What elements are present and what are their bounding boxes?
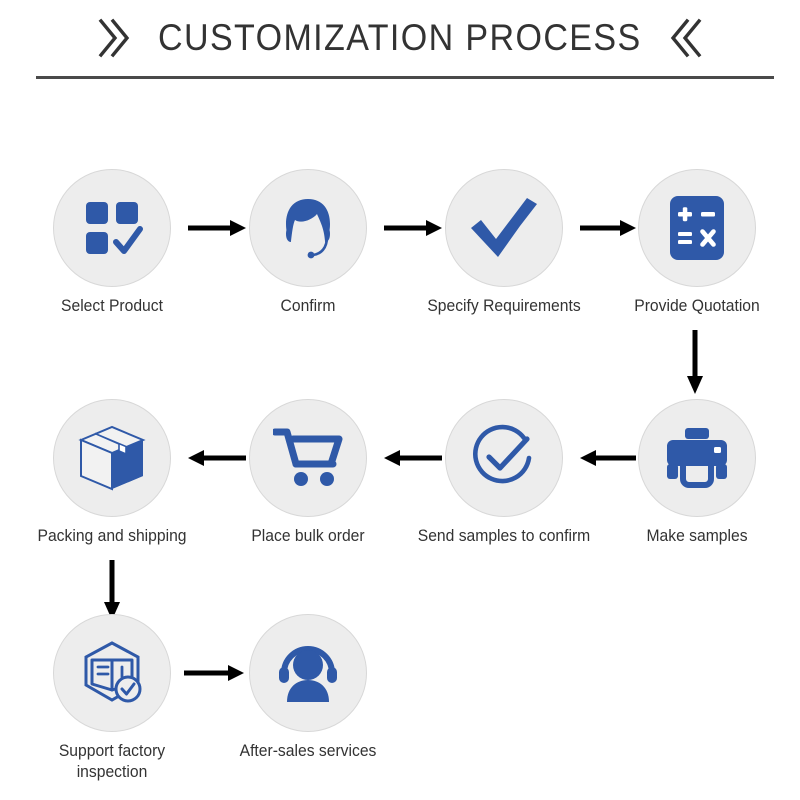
step-packing-and-shipping[interactable]: Packing and shipping	[7, 399, 217, 547]
step-after-sales-services[interactable]: After-sales services	[203, 614, 413, 762]
step-confirm[interactable]: Confirm	[233, 169, 383, 317]
shopping-cart-icon	[273, 426, 343, 490]
step-label: Support factory inspection	[41, 741, 184, 783]
step-label: Packing and shipping	[12, 526, 212, 547]
step-label: Place bulk order	[237, 526, 380, 547]
page-title: CUSTOMIZATION PROCESS	[158, 17, 642, 59]
calculator-icon	[668, 194, 726, 262]
grid-check-icon	[80, 196, 144, 260]
checkmark-icon	[468, 195, 540, 261]
step-label: After-sales services	[208, 741, 408, 762]
headset-person-icon	[275, 643, 341, 703]
arrow-row1-3-4	[580, 216, 636, 240]
arrow-row2-to-row3	[100, 560, 124, 620]
arrow-row1-1-2	[188, 216, 246, 240]
step-support-factory-inspection[interactable]: Support factory inspection	[37, 614, 187, 783]
step-send-samples-to-confirm[interactable]: Send samples to confirm	[399, 399, 609, 547]
shield-inspection-icon	[78, 640, 146, 706]
arrow-row2-4-3	[578, 446, 636, 470]
step-label: Confirm	[237, 296, 380, 317]
arrow-row2-2-1	[186, 446, 246, 470]
arrow-row3-1-2	[184, 661, 244, 685]
printing-press-icon	[663, 427, 731, 489]
step-icon-circle	[638, 169, 756, 287]
step-label: Make samples	[626, 526, 769, 547]
package-box-icon	[77, 423, 147, 493]
step-icon-circle	[638, 399, 756, 517]
step-icon-circle	[53, 399, 171, 517]
step-label: Select Product	[41, 296, 184, 317]
diagram-header: CUSTOMIZATION PROCESS	[0, 0, 800, 90]
step-icon-circle	[249, 399, 367, 517]
step-label: Specify Requirements	[404, 296, 604, 317]
step-select-product[interactable]: Select Product	[37, 169, 187, 317]
step-icon-circle	[53, 614, 171, 732]
title-row: CUSTOMIZATION PROCESS	[0, 8, 800, 68]
step-specify-requirements[interactable]: Specify Requirements	[399, 169, 609, 317]
step-icon-circle	[53, 169, 171, 287]
title-divider	[36, 76, 774, 79]
circle-check-icon	[469, 423, 539, 493]
support-agent-icon	[274, 194, 342, 262]
arrow-row2-3-2	[382, 446, 442, 470]
step-icon-circle	[249, 614, 367, 732]
step-icon-circle	[445, 169, 563, 287]
arrow-row1-to-row2	[683, 330, 707, 394]
double-chevron-left-icon	[669, 17, 703, 59]
arrow-row1-2-3	[384, 216, 442, 240]
double-chevron-right-icon	[97, 17, 131, 59]
step-label: Send samples to confirm	[404, 526, 604, 547]
step-label: Provide Quotation	[597, 296, 797, 317]
step-icon-circle	[249, 169, 367, 287]
step-place-bulk-order[interactable]: Place bulk order	[233, 399, 383, 547]
step-provide-quotation[interactable]: Provide Quotation	[592, 169, 800, 317]
step-icon-circle	[445, 399, 563, 517]
step-make-samples[interactable]: Make samples	[622, 399, 772, 547]
